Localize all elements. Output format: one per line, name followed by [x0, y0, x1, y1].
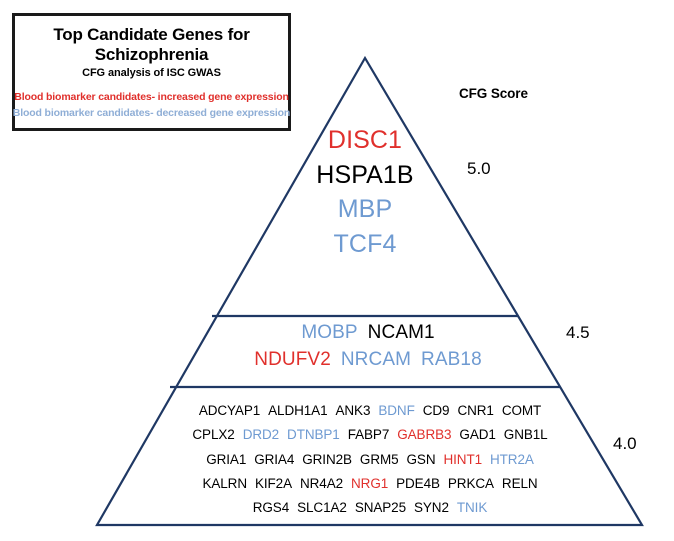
gene-label-kif2a: KIF2A — [255, 476, 292, 491]
gene-label-slc1a2: SLC1A2 — [297, 500, 347, 515]
gene-label-rgs4: RGS4 — [253, 500, 289, 515]
gene-label-kalrn: KALRN — [202, 476, 247, 491]
gene-label-rab18: RAB18 — [421, 349, 482, 370]
gene-label-syn2: SYN2 — [414, 500, 449, 515]
gene-row: RGS4SLC1A2SNAP25SYN2TNIK — [120, 496, 620, 520]
legend-subtitle: CFG analysis of ISC GWAS — [82, 67, 221, 79]
gene-row: MBP — [265, 192, 465, 227]
gene-label-drd2: DRD2 — [243, 427, 279, 442]
gene-tier-5-0: DISC1HSPA1BMBPTCF4 — [265, 123, 465, 261]
gene-label-ndufv2: NDUFV2 — [254, 349, 331, 370]
gene-row: MOBPNCAM1 — [218, 320, 518, 347]
gene-label-fabp7: FABP7 — [348, 427, 390, 442]
gene-label-nrg1: NRG1 — [351, 476, 388, 491]
gene-label-gsn: GSN — [407, 452, 436, 467]
gene-tier-4-5: MOBPNCAM1NDUFV2NRCAMRAB18 — [218, 320, 518, 374]
gene-label-ncam1: NCAM1 — [368, 322, 435, 343]
score-value-5-0: 5.0 — [467, 159, 491, 179]
gene-label-reln: RELN — [502, 476, 538, 491]
legend-title-line2: Schizophrenia — [95, 45, 209, 64]
score-value-4-5: 4.5 — [566, 323, 590, 343]
gene-row: DISC1 — [265, 123, 465, 158]
gene-label-cnr1: CNR1 — [457, 403, 493, 418]
schizophrenia-candidate-genes-figure: Top Candidate Genes for Schizophrenia CF… — [0, 0, 674, 541]
gene-label-bdnf: BDNF — [378, 403, 414, 418]
gene-label-htr2a: HTR2A — [490, 452, 534, 467]
gene-row: CPLX2DRD2DTNBP1FABP7GABRB3GAD1GNB1L — [120, 423, 620, 447]
legend-title-line1: Top Candidate Genes for — [53, 25, 249, 44]
gene-label-adcyap1: ADCYAP1 — [199, 403, 260, 418]
cfg-score-axis-label: CFG Score — [459, 86, 528, 101]
gene-label-nrcam: NRCAM — [341, 349, 411, 370]
gene-label-cd9: CD9 — [423, 403, 450, 418]
gene-row: KALRNKIF2ANR4A2NRG1PDE4BPRKCARELN — [120, 472, 620, 496]
gene-label-grm5: GRM5 — [360, 452, 399, 467]
gene-label-hspa1b: HSPA1B — [265, 158, 465, 193]
gene-label-ank3: ANK3 — [336, 403, 371, 418]
gene-label-nr4a2: NR4A2 — [300, 476, 343, 491]
legend-key-increased-expression: Blood biomarker candidates- increased ge… — [14, 91, 288, 103]
gene-label-cplx2: CPLX2 — [192, 427, 234, 442]
gene-row: HSPA1B — [265, 158, 465, 193]
legend-key-decreased-expression: Blood biomarker candidates- decreased ge… — [13, 107, 290, 119]
gene-label-disc1: DISC1 — [265, 123, 465, 158]
gene-label-gria1: GRIA1 — [206, 452, 246, 467]
gene-row: GRIA1GRIA4GRIN2BGRM5GSNHINT1HTR2A — [120, 448, 620, 472]
gene-label-pde4b: PDE4B — [396, 476, 440, 491]
gene-row: TCF4 — [265, 227, 465, 262]
gene-label-gabrb3: GABRB3 — [397, 427, 451, 442]
gene-label-mbp: MBP — [265, 192, 465, 227]
gene-tier-4-0: ADCYAP1ALDH1A1ANK3BDNFCD9CNR1COMTCPLX2DR… — [120, 399, 620, 521]
gene-label-prkca: PRKCA — [448, 476, 494, 491]
gene-label-tcf4: TCF4 — [265, 227, 465, 262]
gene-row: NDUFV2NRCAMRAB18 — [218, 347, 518, 374]
gene-label-gria4: GRIA4 — [254, 452, 294, 467]
legend-title: Top Candidate Genes for Schizophrenia — [27, 25, 277, 64]
gene-label-gnb1l: GNB1L — [504, 427, 548, 442]
legend-box: Top Candidate Genes for Schizophrenia CF… — [12, 13, 291, 131]
gene-label-comt: COMT — [502, 403, 541, 418]
gene-label-tnik: TNIK — [457, 500, 487, 515]
gene-row: ADCYAP1ALDH1A1ANK3BDNFCD9CNR1COMT — [120, 399, 620, 423]
gene-label-hint1: HINT1 — [444, 452, 483, 467]
gene-label-mobp: MOBP — [301, 322, 357, 343]
gene-label-grin2b: GRIN2B — [302, 452, 352, 467]
gene-label-gad1: GAD1 — [459, 427, 495, 442]
gene-label-aldh1a1: ALDH1A1 — [268, 403, 327, 418]
gene-label-snap25: SNAP25 — [355, 500, 406, 515]
gene-label-dtnbp1: DTNBP1 — [287, 427, 340, 442]
